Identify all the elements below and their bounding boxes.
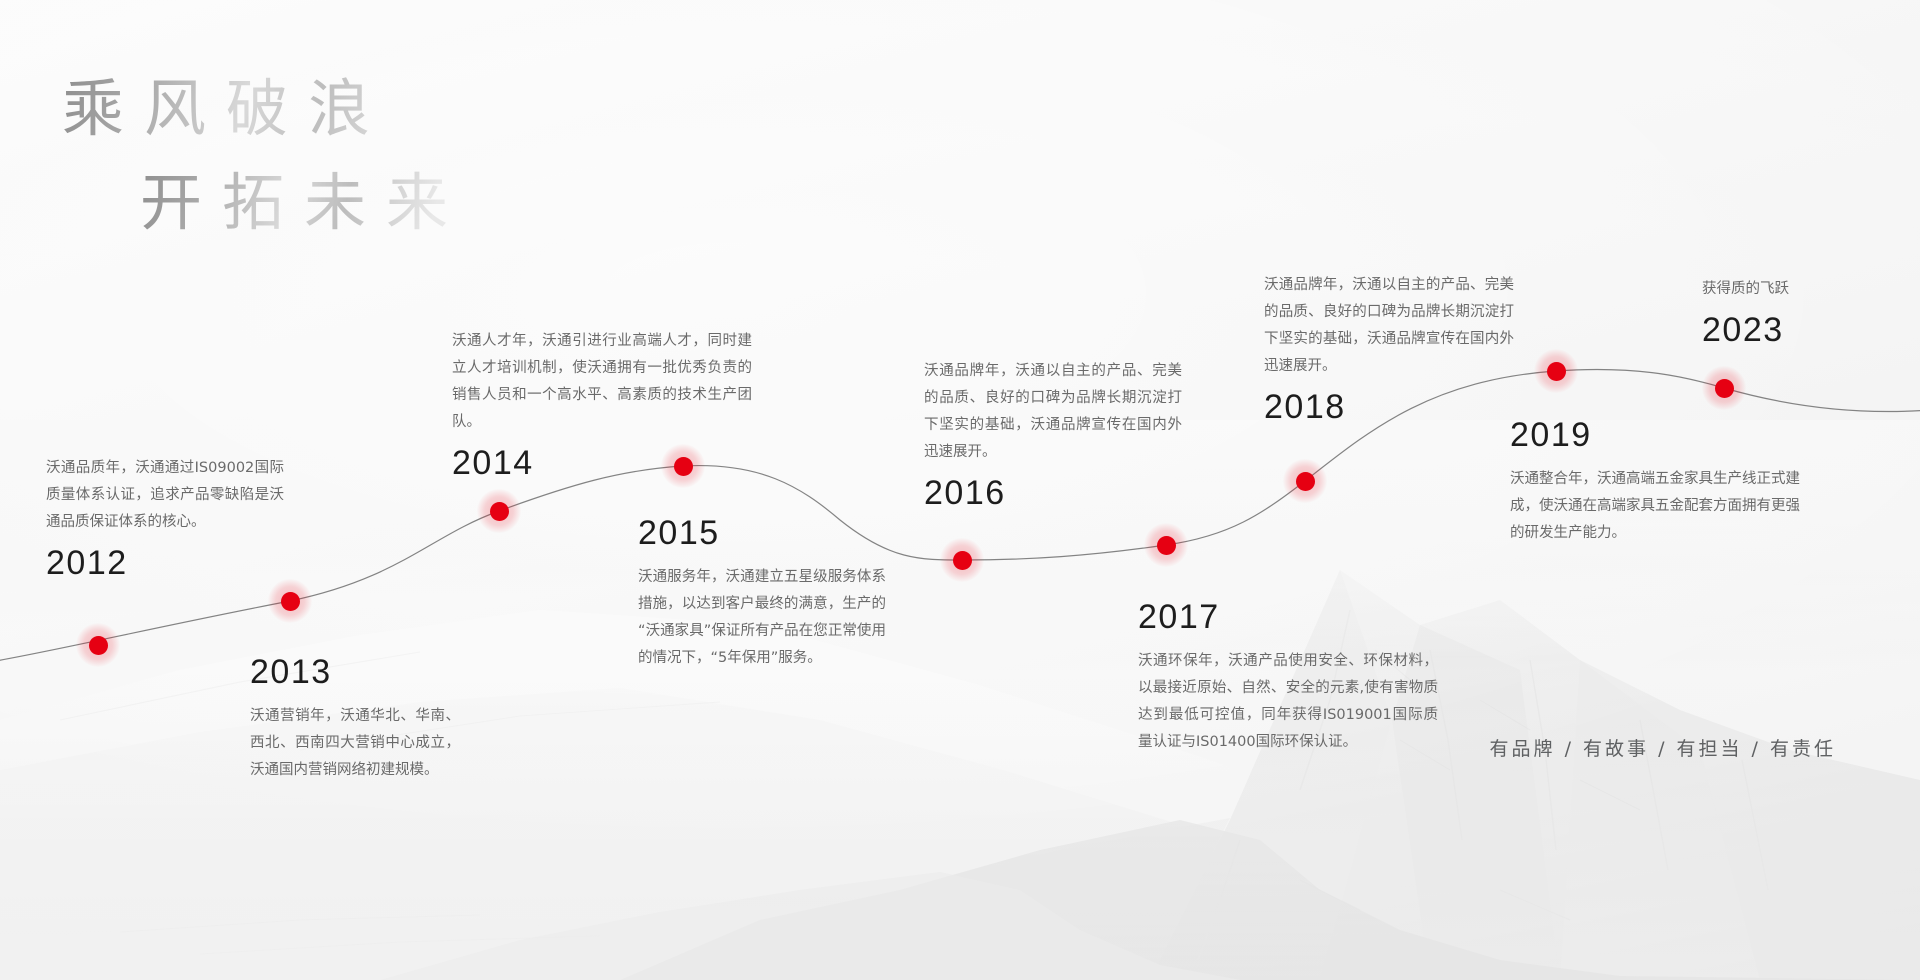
milestone-2012[interactable]: 沃通品质年，沃通通过IS09002国际质量体系认证，追求产品零缺陷是沃通品质保证… [46, 455, 284, 580]
milestone-year-label: 2019 [1510, 418, 1800, 452]
milestone-year-label: 2017 [1138, 600, 1438, 634]
milestone-2018[interactable]: 沃通品牌年，沃通以自主的产品、完美的品质、良好的口碑为品牌长期沉淀打下坚实的基础… [1264, 272, 1514, 424]
dot-icon [1547, 362, 1566, 381]
milestone-2019[interactable]: 2019沃通整合年，沃通高端五金家具生产线正式建成，使沃通在高端家具五金配套方面… [1510, 418, 1800, 547]
milestone-year-label: 2016 [924, 476, 1182, 510]
page-title: 乘风破浪 开拓未来 [62, 68, 468, 244]
title-line-1: 乘风破浪 [62, 68, 468, 150]
milestone-description: 沃通品质年，沃通通过IS09002国际质量体系认证，追求产品零缺陷是沃通品质保证… [46, 455, 284, 536]
milestone-2017[interactable]: 2017沃通环保年，沃通产品使用安全、环保材料，以最接近原始、自然、安全的元素,… [1138, 600, 1438, 756]
milestone-description: 沃通整合年，沃通高端五金家具生产线正式建成，使沃通在高端家具五金配套方面拥有更强… [1510, 466, 1800, 547]
milestone-2013[interactable]: 2013沃通营销年，沃通华北、华南、西北、西南四大营销中心成立，沃通国内营销网络… [250, 655, 460, 784]
milestone-2023[interactable]: 获得质的飞跃2023 [1702, 276, 1902, 347]
milestone-year-label: 2013 [250, 655, 460, 689]
dot-icon [1715, 379, 1734, 398]
milestone-description: 沃通品牌年，沃通以自主的产品、完美的品质、良好的口碑为品牌长期沉淀打下坚实的基础… [1264, 272, 1514, 380]
timeline-poster: 乘风破浪 开拓未来 沃通品质年，沃通通过IS09002国际质量体系认证，追求产品… [0, 0, 1920, 980]
milestone-year-label: 2014 [452, 446, 752, 480]
dot-icon [490, 502, 509, 521]
title-line-2: 开拓未来 [140, 162, 468, 244]
milestone-description: 沃通人才年，沃通引进行业高端人才，同时建立人才培训机制，使沃通拥有一批优秀负责的… [452, 328, 752, 436]
dot-icon [674, 457, 693, 476]
milestone-2016[interactable]: 沃通品牌年，沃通以自主的产品、完美的品质、良好的口碑为品牌长期沉淀打下坚实的基础… [924, 358, 1182, 510]
dot-icon [1157, 536, 1176, 555]
milestone-description: 沃通环保年，沃通产品使用安全、环保材料，以最接近原始、自然、安全的元素,使有害物… [1138, 648, 1438, 756]
milestone-description: 沃通品牌年，沃通以自主的产品、完美的品质、良好的口碑为品牌长期沉淀打下坚实的基础… [924, 358, 1182, 466]
milestone-description: 获得质的飞跃 [1702, 276, 1902, 303]
milestone-year-label: 2015 [638, 516, 886, 550]
milestone-year-label: 2012 [46, 546, 284, 580]
milestone-description: 沃通服务年，沃通建立五星级服务体系措施，以达到客户最终的满意，生产的“沃通家具”… [638, 564, 886, 672]
dot-icon [89, 636, 108, 655]
milestone-description: 沃通营销年，沃通华北、华南、西北、西南四大营销中心成立，沃通国内营销网络初建规模… [250, 703, 460, 784]
dot-icon [953, 551, 972, 570]
milestone-2014[interactable]: 沃通人才年，沃通引进行业高端人才，同时建立人才培训机制，使沃通拥有一批优秀负责的… [452, 328, 752, 480]
footer-slogan: 有品牌 / 有故事 / 有担当 / 有责任 [1490, 734, 1836, 761]
milestone-2015[interactable]: 2015沃通服务年，沃通建立五星级服务体系措施，以达到客户最终的满意，生产的“沃… [638, 516, 886, 672]
dot-icon [281, 592, 300, 611]
milestone-year-label: 2018 [1264, 390, 1514, 424]
milestone-year-label: 2023 [1702, 313, 1902, 347]
dot-icon [1296, 472, 1315, 491]
